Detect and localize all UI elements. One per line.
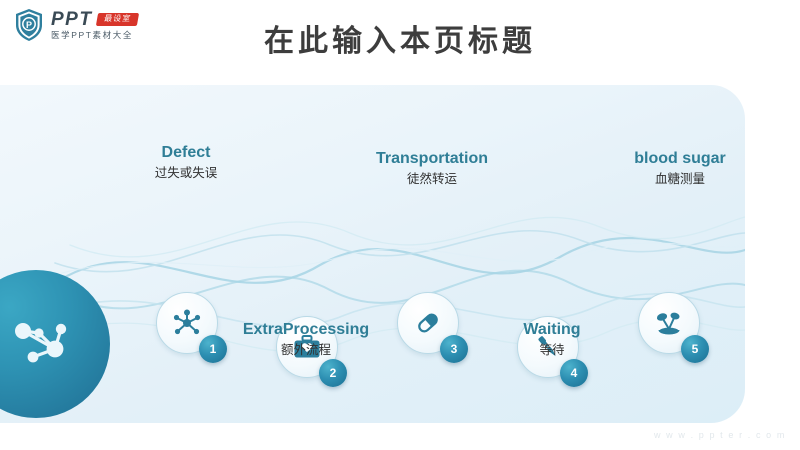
molecule-network-icon	[9, 313, 79, 375]
molecule-network-icon	[172, 309, 202, 337]
label-group-1: Defect 过失或失误	[106, 143, 266, 180]
page-title: 在此输入本页标题	[0, 16, 800, 60]
label-2-cn: 额外流程	[206, 342, 406, 357]
label-5-cn: 血糖测量	[590, 171, 770, 186]
pill-capsule-icon	[413, 308, 443, 338]
wave-decoration	[0, 85, 745, 423]
content-panel: 1 2 3	[0, 85, 745, 423]
label-group-2: ExtraProcessing 额外流程	[206, 320, 406, 357]
label-4-en: Waiting	[472, 320, 632, 339]
label-4-cn: 等待	[472, 342, 632, 357]
label-1-cn: 过失或失误	[106, 165, 266, 180]
petri-dish-icon	[653, 309, 685, 337]
process-node-3[interactable]: 3	[397, 292, 457, 352]
label-2-en: ExtraProcessing	[206, 320, 406, 339]
node-5-badge: 5	[681, 335, 709, 363]
label-3-cn: 徒然转运	[337, 171, 527, 186]
label-3-en: Transportation	[337, 149, 527, 168]
process-node-5[interactable]: 5	[638, 292, 698, 352]
label-group-3: Transportation 徒然转运	[337, 149, 527, 186]
label-1-en: Defect	[106, 143, 266, 162]
label-group-5: blood sugar 血糖测量	[590, 149, 770, 186]
node-2-badge: 2	[319, 359, 347, 387]
node-4-badge: 4	[560, 359, 588, 387]
node-3-badge: 3	[440, 335, 468, 363]
site-watermark: w w w . p p t e r . c o m	[654, 430, 786, 440]
label-group-4: Waiting 等待	[472, 320, 632, 357]
label-5-en: blood sugar	[590, 149, 770, 168]
